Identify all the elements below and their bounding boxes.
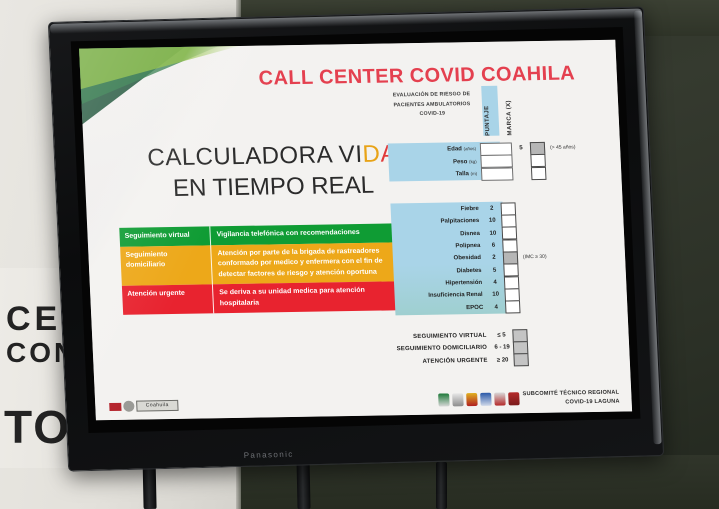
measurement-mark-checkbox[interactable]: [531, 166, 547, 179]
coahuila-flag-icon: [109, 402, 121, 410]
score-legend-row: ATENCIÓN URGENTE≥ 20: [379, 354, 529, 368]
symptom-mark-checkbox[interactable]: [505, 300, 521, 313]
calculator-heading-line-2: EN TIEMPO REAL: [123, 171, 424, 204]
measurement-unit: (m): [470, 171, 477, 176]
score-legend-range: ≤ 5: [490, 332, 512, 338]
marca-column-header: MARCA (X): [505, 81, 513, 135]
calculator-heading: CALCULADORA VIDA: [121, 139, 422, 174]
score-legend-label: SEGUIMIENTO VIRTUAL: [378, 333, 490, 341]
score-legend-label: SEGUIMIENTO DOMICILIARIO: [379, 345, 491, 353]
symptom-mark-checkbox[interactable]: [500, 202, 516, 215]
symptom-points: 6: [484, 243, 502, 249]
footer-subcomite: SUBCOMITÉ TÉCNICO REGIONAL COVID-19 LAGU…: [438, 389, 619, 409]
symptom-mark-checkbox[interactable]: [504, 288, 520, 301]
coahuila-wordmark: Coahuila: [136, 400, 179, 412]
symptom-row: EPOC4: [395, 301, 526, 316]
symptom-points: 10: [484, 230, 502, 236]
symptom-mark-checkbox[interactable]: [504, 276, 520, 289]
score-legend-range: 6 - 19: [491, 345, 513, 351]
vida-letter-v: V: [338, 141, 356, 168]
score-legend-range: ≥ 20: [492, 357, 514, 363]
symptom-label: Disnea: [392, 231, 484, 239]
tv-stand-pole-right: [436, 462, 447, 509]
score-legend-label: ATENCIÓN URGENTE: [379, 358, 491, 366]
wall-sign-line-1: CE: [6, 300, 61, 339]
tv-screen: CALL CENTER COVID COAHILA CALCULADORA VI…: [71, 27, 641, 433]
television: Panasonic CALL CENTER COVID COAHILA CALC…: [48, 6, 664, 471]
recommendation-row: Atención urgenteSe deriva a su unidad me…: [122, 281, 405, 315]
symptom-points: 2: [485, 255, 503, 261]
symptom-mark-checkbox[interactable]: [503, 251, 519, 264]
recommendation-table: Seguimiento virtualVigilancia telefónica…: [119, 223, 405, 315]
score-legend-box: [513, 341, 529, 354]
symptom-mark-checkbox[interactable]: [502, 227, 518, 240]
symptom-points: 5: [485, 267, 503, 273]
measurement-unit: (años): [463, 146, 476, 151]
institution-logo-1-icon: [439, 394, 451, 407]
vida-letter-d: D: [362, 141, 381, 168]
symptom-mark-checkbox[interactable]: [503, 264, 519, 277]
recommendation-description: Atención por parte de la brigada de rast…: [210, 242, 404, 285]
symptom-label: Palpitaciones: [391, 218, 483, 226]
coahuila-emblem-icon: [123, 401, 135, 412]
score-legend-box: [512, 329, 528, 342]
symptom-points: 10: [483, 218, 501, 224]
symptom-points: 4: [486, 280, 504, 286]
presentation-slide: CALL CENTER COVID COAHILA CALCULADORA VI…: [79, 40, 632, 421]
institution-logo-3-icon: [467, 393, 479, 406]
footer-coahuila-logo: Coahuila: [109, 400, 179, 412]
measurement-row: Talla (m): [389, 167, 552, 182]
symptom-points: 2: [483, 206, 501, 212]
footer-text-line-2: COVID-19 LAGUNA: [523, 397, 620, 407]
recommendation-row: Seguimiento domiciliarioAtención por par…: [120, 242, 404, 286]
symptom-label: Polipnea: [392, 243, 484, 251]
slide-corner-decoration-light: [79, 40, 265, 91]
institution-logo-2-icon: [453, 393, 465, 406]
slide-title: CALL CENTER COVID COAHILA: [258, 62, 575, 90]
measurement-points: 5: [512, 145, 530, 151]
symptom-mark-checkbox[interactable]: [501, 214, 517, 227]
recommendation-level: Atención urgente: [122, 284, 213, 314]
measurement-label: Edad (años): [388, 146, 480, 154]
institution-logo-5-icon: [495, 393, 507, 406]
recommendation-level: Seguimiento domiciliario: [120, 245, 212, 286]
symptom-points: 10: [487, 292, 505, 298]
symptom-label: Hipertensión: [394, 280, 486, 288]
evaluation-header: EVALUACIÓN DE RIESGO DE PACIENTES AMBULA…: [383, 90, 480, 120]
measurement-label: Talla (m): [389, 171, 481, 179]
calculator-heading-prefix: CALCULADORA: [147, 141, 340, 171]
symptom-label: Fiebre: [391, 206, 483, 214]
score-legend-box: [513, 353, 529, 366]
institution-logo-6-icon: [509, 392, 521, 405]
symptom-mark-checkbox[interactable]: [502, 239, 518, 252]
measurement-label: Peso (kg): [388, 159, 480, 167]
recommendation-level: Seguimiento virtual: [119, 226, 210, 246]
symptom-label: Obesidad: [393, 255, 485, 263]
symptom-label: EPOC: [395, 304, 487, 312]
measurement-unit: (kg): [469, 159, 477, 164]
recommendation-description: Se deriva a su unidad medica para atenci…: [212, 281, 405, 313]
symptom-label: Diabetes: [393, 268, 485, 276]
measurement-input[interactable]: [481, 167, 514, 181]
measurement-mark-checkbox[interactable]: [530, 142, 546, 155]
institution-logo-4-icon: [481, 393, 493, 406]
tv-brand-label: Panasonic: [244, 450, 294, 460]
footer-text: SUBCOMITÉ TÉCNICO REGIONAL COVID-19 LAGU…: [522, 389, 619, 407]
measurement-note: (> 45 años): [545, 145, 576, 151]
symptom-note: (IMC ≥ 30): [518, 254, 547, 260]
symptom-points: 4: [487, 304, 505, 310]
room-scene: CE CON TORREÓN Panasonic CALL CENTER COV…: [0, 0, 719, 509]
symptom-label: Insuficiencia Renal: [395, 292, 487, 300]
measurement-mark-checkbox[interactable]: [530, 154, 546, 167]
